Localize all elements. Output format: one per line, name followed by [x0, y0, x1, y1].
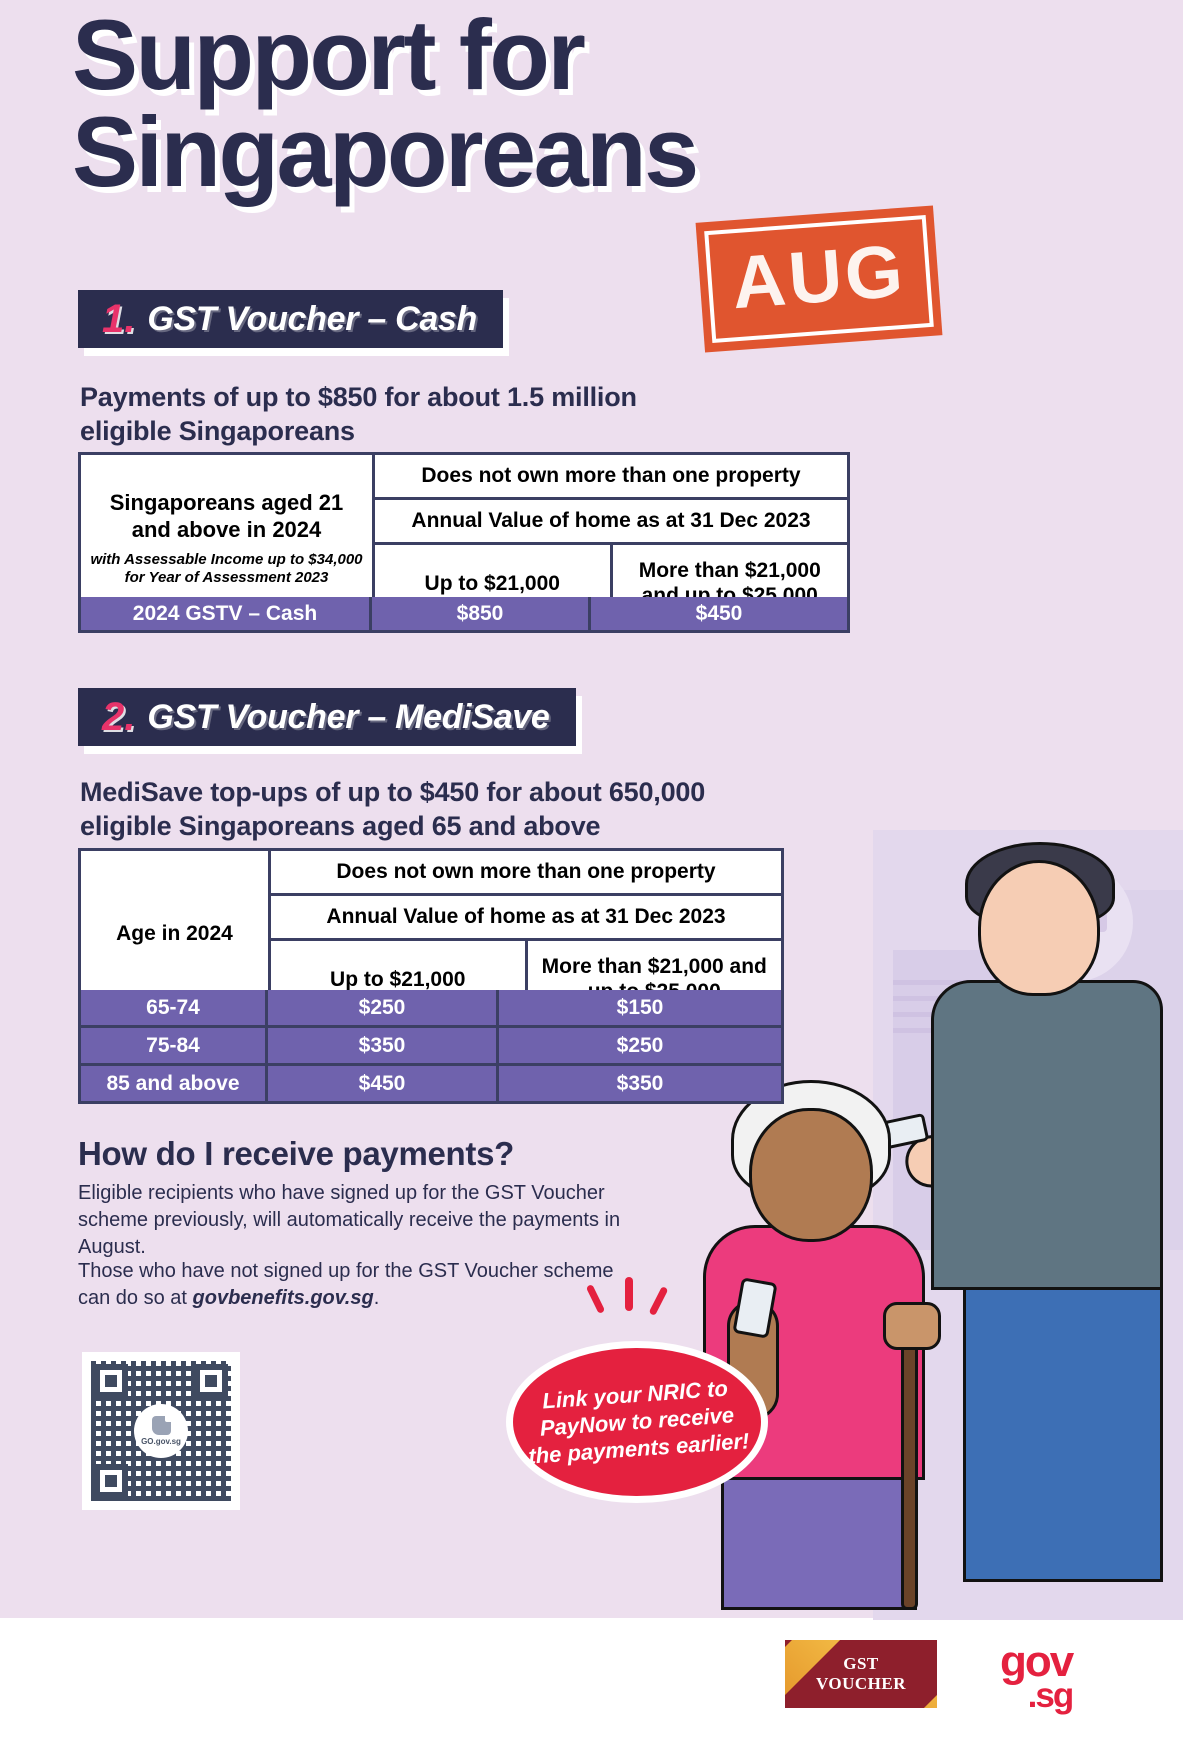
section-1-label: GST Voucher – Cash — [147, 300, 477, 339]
qr-center-logo: GO.gov.sg — [134, 1404, 188, 1458]
gstv-cash-row-value-2: $450 — [588, 597, 847, 630]
table-row: 2024 GSTV – Cash $850 $450 — [78, 597, 850, 633]
gstv-cash-row-label: 2024 GSTV – Cash — [81, 597, 369, 630]
month-stamp: AUG — [696, 205, 943, 352]
section-1-subheadline: Payments of up to $850 for about 1.5 mil… — [80, 380, 720, 449]
gov-sg-logo: gov .sg — [1000, 1644, 1072, 1711]
go-gov-sg-icon — [152, 1416, 171, 1435]
woman-hand-on-cane — [883, 1302, 941, 1350]
section-2-header: 2. GST Voucher – MediSave — [78, 688, 576, 746]
table-row: 85 and above $450 $350 — [78, 1066, 784, 1104]
gstv-medisave-header-property: Does not own more than one property — [271, 851, 781, 896]
medisave-row-1-value-1: $350 — [265, 1028, 496, 1063]
section-1-header: 1. GST Voucher – Cash — [78, 290, 503, 348]
man-body — [931, 980, 1163, 1290]
man-head — [978, 860, 1100, 996]
medisave-row-0-value-1: $250 — [265, 990, 496, 1025]
medisave-row-0-value-2: $150 — [496, 990, 781, 1025]
govbenefits-link[interactable]: govbenefits.gov.sg — [193, 1287, 374, 1309]
gstv-cash-eligibility-main: Singaporeans aged 21 and above in 2024 — [89, 490, 364, 544]
medisave-row-0-label: 65-74 — [81, 990, 265, 1025]
page-title-line-2: Singaporeans — [72, 103, 992, 200]
section-2-subheadline: MediSave top-ups of up to $450 for about… — [80, 775, 780, 844]
page-title-line-1: Support for — [72, 0, 583, 110]
gstv-medisave-header-annual-value: Annual Value of home as at 31 Dec 2023 — [271, 896, 781, 941]
qr-code-pattern: GO.gov.sg — [91, 1361, 231, 1501]
gst-voucher-logo: GST VOUCHER — [785, 1640, 937, 1708]
medisave-row-2-value-1: $450 — [265, 1066, 496, 1101]
page-title: Support for Singaporeans — [72, 6, 992, 200]
qr-finder-bottom-left — [94, 1464, 128, 1498]
qr-logo-label: GO.gov.sg — [141, 1437, 181, 1446]
month-stamp-label: AUG — [696, 205, 943, 352]
gstv-cash-header-annual-value: Annual Value of home as at 31 Dec 2023 — [375, 500, 847, 545]
gstv-logo-text: GST VOUCHER — [816, 1654, 906, 1693]
sparkle-icon-right — [649, 1286, 669, 1316]
medisave-row-2-label: 85 and above — [81, 1066, 265, 1101]
how-to-receive-title: How do I receive payments? — [78, 1135, 514, 1173]
people-illustration — [853, 830, 1183, 1620]
medisave-row-2-value-2: $350 — [496, 1066, 781, 1101]
how-to-receive-paragraph-1: Eligible recipients who have signed up f… — [78, 1180, 648, 1261]
woman-head — [749, 1108, 873, 1242]
section-2-label: GST Voucher – MediSave — [147, 698, 549, 737]
gstv-cash-header-property: Does not own more than one property — [375, 455, 847, 500]
woman-legs — [721, 1470, 917, 1610]
gov-sg-logo-sg: .sg — [1000, 1682, 1072, 1711]
paynow-callout-text: Link your NRIC to PayNow to receive the … — [510, 1373, 763, 1471]
sparkle-icon-center — [625, 1277, 633, 1311]
section-1-number: 1. — [102, 299, 135, 339]
poster-canvas: Support for Singaporeans AUG 1. GST Vouc… — [0, 0, 1183, 1763]
gstv-medisave-age-label: Age in 2024 — [116, 921, 233, 947]
qr-code[interactable]: GO.gov.sg — [82, 1352, 240, 1510]
table-row: 75-84 $350 $250 — [78, 1028, 784, 1066]
paynow-callout-bubble: Link your NRIC to PayNow to receive the … — [513, 1348, 761, 1496]
gstv-logo-line-1: GST — [816, 1654, 906, 1674]
medisave-row-1-label: 75-84 — [81, 1028, 265, 1063]
gstv-logo-line-2: VOUCHER — [816, 1674, 906, 1694]
gstv-cash-row-value-1: $850 — [369, 597, 588, 630]
walking-cane — [901, 1320, 918, 1610]
table-row: 65-74 $250 $150 — [78, 990, 784, 1028]
section-2-number: 2. — [102, 697, 135, 737]
man-legs — [963, 1282, 1163, 1582]
gstv-cash-eligibility-sub: with Assessable Income up to $34,000 for… — [89, 551, 364, 587]
qr-finder-top-right — [194, 1364, 228, 1398]
how-paragraph-2-after: . — [374, 1287, 380, 1309]
medisave-row-1-value-2: $250 — [496, 1028, 781, 1063]
how-to-receive-paragraph-2: Those who have not signed up for the GST… — [78, 1258, 648, 1312]
qr-finder-top-left — [94, 1364, 128, 1398]
